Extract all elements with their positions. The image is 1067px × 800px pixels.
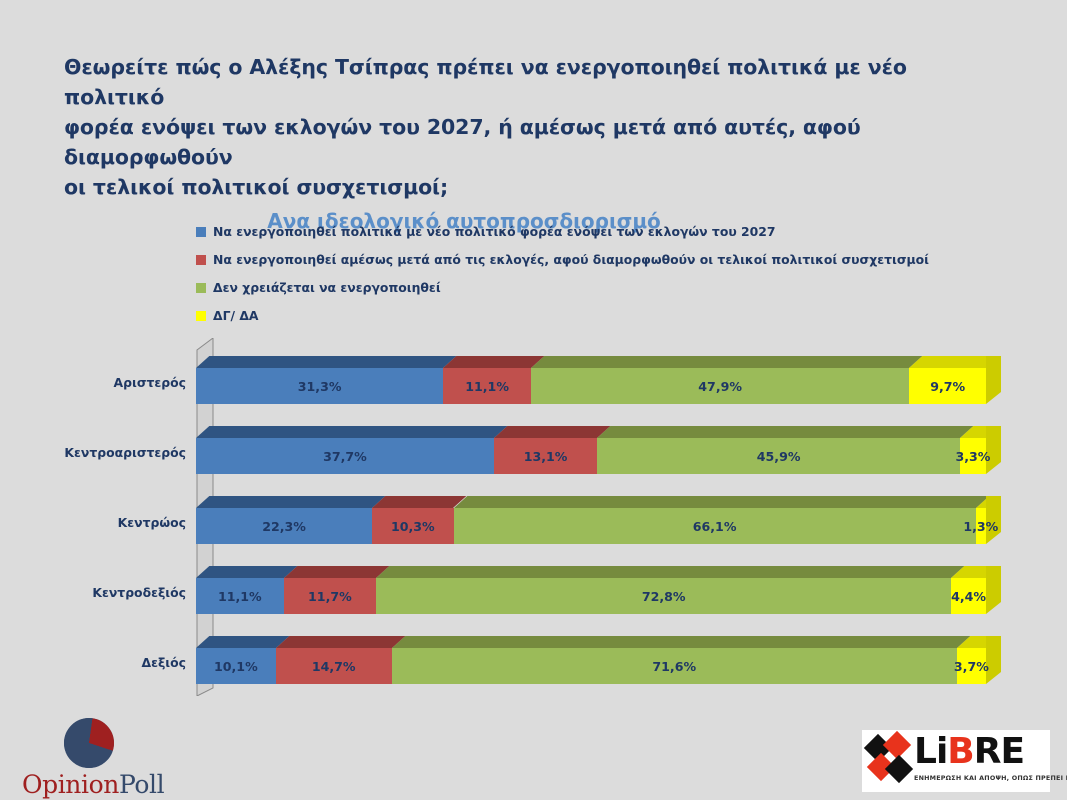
chart-bars: 31,3%11,1%47,9%9,7%37,7%13,1%45,9%3,3%22… xyxy=(196,330,1002,710)
bar-value-label: 45,9% xyxy=(757,449,801,464)
bar-segment[interactable]: 37,7% xyxy=(196,438,494,474)
category-label: Αριστερός xyxy=(0,375,186,390)
bar-segment-top-face xyxy=(443,356,544,368)
bar-value-label: 72,8% xyxy=(642,589,686,604)
bar-segment[interactable]: 10,3% xyxy=(372,508,453,544)
pie-chart-icon xyxy=(64,718,114,768)
bar-segment-top-face xyxy=(284,566,390,578)
category-label: Δεξιός xyxy=(0,655,186,670)
bar-value-label: 47,9% xyxy=(698,379,742,394)
libre-word-li: Li xyxy=(914,731,947,772)
bar-row: 22,3%10,3%66,1%1,3% xyxy=(196,496,1002,544)
bar-row: 10,1%14,7%71,6%3,7% xyxy=(196,636,1002,684)
bar-segment-top-face xyxy=(454,496,990,508)
bar-value-label: 71,6% xyxy=(652,659,696,674)
legend-item-label: ΔΓ/ ΔΑ xyxy=(213,308,259,323)
legend-item-label: Να ενεργοποιηθεί πολιτικά με νέο πολιτικ… xyxy=(213,224,776,239)
bar-value-label: 4,4% xyxy=(951,589,986,604)
bar-segment[interactable]: 31,3% xyxy=(196,368,443,404)
opinion-poll-word-opinion: Opinion xyxy=(22,770,119,799)
bar-segment-top-face xyxy=(196,566,297,578)
legend-item[interactable]: Να ενεργοποιηθεί πολιτικά με νέο πολιτικ… xyxy=(196,220,956,243)
bar-segment-side-face xyxy=(986,356,1001,404)
bar-segment-top-face xyxy=(597,426,973,438)
opinion-poll-logo: OpinionPoll xyxy=(22,718,192,794)
bar-value-label: 31,3% xyxy=(298,379,342,394)
bar-segment[interactable]: 11,1% xyxy=(196,578,284,614)
bar-segment[interactable]: 11,7% xyxy=(284,578,376,614)
legend-item[interactable]: Δεν χρειάζεται να ενεργοποιηθεί xyxy=(196,276,956,299)
bar-segment-side-face xyxy=(986,566,1001,614)
bar-segment[interactable]: 66,1% xyxy=(454,508,976,544)
legend-item-label: Δεν χρειάζεται να ενεργοποιηθεί xyxy=(213,280,441,295)
libre-word-b: B xyxy=(947,731,973,772)
chart-plot-area: ΑριστερόςΚεντροαριστερόςΚεντρώοςΚεντροδε… xyxy=(0,330,1067,710)
bar-segment[interactable]: 11,1% xyxy=(443,368,531,404)
libre-tagline: ΕΝΗΜΕΡΩΣΗ ΚΑΙ ΑΠΟΨΗ, ΟΠΩΣ ΠΡΕΠΕΙ ΝΑ ΕΙΝΑ… xyxy=(914,774,1046,782)
bar-value-label: 11,1% xyxy=(218,589,262,604)
bar-segment[interactable]: 47,9% xyxy=(531,368,909,404)
page-title-line-2: φορέα ενόψει των εκλογών του 2027, ή αμέ… xyxy=(64,112,1004,172)
bar-value-label: 3,7% xyxy=(954,659,989,674)
category-label: Κεντροαριστερός xyxy=(0,445,186,460)
bar-value-label: 9,7% xyxy=(930,379,965,394)
page-title-line-3: οι τελικοί πολιτικοί συσχετισμοί; xyxy=(64,172,1004,202)
libre-logo: LiBRE ΕΝΗΜΕΡΩΣΗ ΚΑΙ ΑΠΟΨΗ, ΟΠΩΣ ΠΡΕΠΕΙ Ν… xyxy=(862,730,1050,792)
bar-segment-top-face xyxy=(376,566,964,578)
bar-segment[interactable]: 13,1% xyxy=(494,438,597,474)
bar-segment[interactable]: 71,6% xyxy=(392,648,957,684)
legend-swatch-icon xyxy=(196,255,206,265)
bar-segment[interactable]: 10,1% xyxy=(196,648,276,684)
bar-value-label: 14,7% xyxy=(312,659,356,674)
legend-item[interactable]: Να ενεργοποιηθεί αμέσως μετά από τις εκλ… xyxy=(196,248,956,271)
stacked-bar: 31,3%11,1%47,9%9,7% xyxy=(196,368,986,404)
bar-value-label: 13,1% xyxy=(524,449,568,464)
bar-segment[interactable]: 9,7% xyxy=(909,368,986,404)
category-axis: ΑριστερόςΚεντροαριστερόςΚεντρώοςΚεντροδε… xyxy=(0,330,186,710)
bar-segment-top-face xyxy=(196,636,289,648)
bar-segment-top-face xyxy=(276,636,405,648)
bar-segment[interactable]: 45,9% xyxy=(597,438,960,474)
bar-value-label: 10,1% xyxy=(214,659,258,674)
chart-title-block: Θεωρείτε πώς ο Αλέξης Τσίπρας πρέπει να … xyxy=(64,52,1004,235)
bar-segment[interactable]: 72,8% xyxy=(376,578,951,614)
bar-value-label: 66,1% xyxy=(693,519,737,534)
bar-value-label: 3,3% xyxy=(955,449,990,464)
bar-segment-top-face xyxy=(196,496,385,508)
category-label: Κεντροδεξιός xyxy=(0,585,186,600)
bar-segment-top-face xyxy=(196,356,457,368)
bar-row: 11,1%11,7%72,8%4,4% xyxy=(196,566,1002,614)
legend-item[interactable]: ΔΓ/ ΔΑ xyxy=(196,304,956,327)
chart-legend: Να ενεργοποιηθεί πολιτικά με νέο πολιτικ… xyxy=(196,220,956,332)
bar-segment[interactable]: 3,7% xyxy=(957,648,986,684)
bar-value-label: 1,3% xyxy=(963,519,998,534)
libre-diamonds-icon xyxy=(868,735,912,781)
bar-segment[interactable]: 4,4% xyxy=(951,578,986,614)
bar-segment-top-face xyxy=(494,426,611,438)
stacked-bar: 10,1%14,7%71,6%3,7% xyxy=(196,648,986,684)
legend-swatch-icon xyxy=(196,311,206,321)
bar-value-label: 10,3% xyxy=(391,519,435,534)
libre-wordmark: LiBRE xyxy=(914,732,1024,772)
bar-value-label: 11,1% xyxy=(465,379,509,394)
stacked-bar: 22,3%10,3%66,1%1,3% xyxy=(196,508,986,544)
stacked-bar: 37,7%13,1%45,9%3,3% xyxy=(196,438,986,474)
bar-segment[interactable]: 14,7% xyxy=(276,648,392,684)
bar-value-label: 37,7% xyxy=(323,449,367,464)
category-label: Κεντρώος xyxy=(0,515,186,530)
page-title-line-1: Θεωρείτε πώς ο Αλέξης Τσίπρας πρέπει να … xyxy=(64,52,1004,112)
libre-word-re: RE xyxy=(974,731,1024,772)
bar-segment-top-face xyxy=(531,356,923,368)
bar-segment[interactable]: 3,3% xyxy=(960,438,986,474)
bar-row: 37,7%13,1%45,9%3,3% xyxy=(196,426,1002,474)
bar-segment-top-face xyxy=(392,636,970,648)
opinion-poll-wordmark: OpinionPoll xyxy=(22,770,192,799)
legend-swatch-icon xyxy=(196,227,206,237)
bar-value-label: 11,7% xyxy=(308,589,352,604)
legend-item-label: Να ενεργοποιηθεί αμέσως μετά από τις εκλ… xyxy=(213,252,929,267)
bar-segment-top-face xyxy=(196,426,507,438)
legend-swatch-icon xyxy=(196,283,206,293)
bar-segment[interactable]: 1,3% xyxy=(976,508,986,544)
bar-value-label: 22,3% xyxy=(262,519,306,534)
bar-segment-top-face xyxy=(372,496,467,508)
stacked-bar: 11,1%11,7%72,8%4,4% xyxy=(196,578,986,614)
bar-segment[interactable]: 22,3% xyxy=(196,508,372,544)
opinion-poll-word-poll: Poll xyxy=(119,770,164,799)
bar-row: 31,3%11,1%47,9%9,7% xyxy=(196,356,1002,404)
